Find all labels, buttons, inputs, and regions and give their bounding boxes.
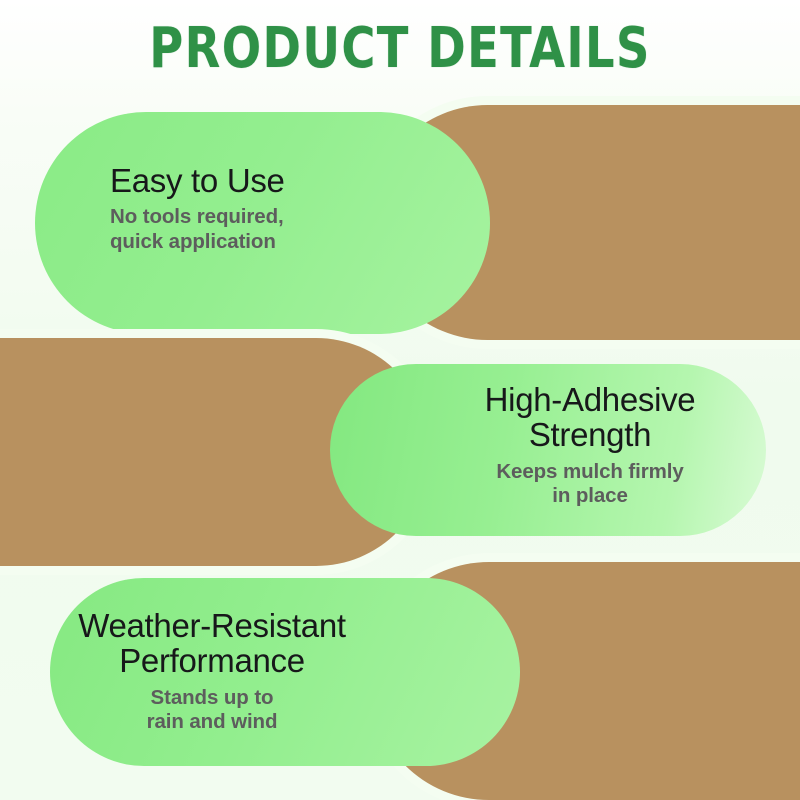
card-3-title: Weather-Resistant Performance — [52, 608, 372, 679]
card-2-subtitle-line-2: in place — [435, 484, 745, 508]
card-2-title-line-2: Strength — [435, 417, 745, 452]
card-2-title: High-Adhesive Strength — [435, 382, 745, 453]
card-1-subtitle-line-2: quick application — [110, 230, 370, 254]
feature-card-easy-to-use: Easy to Use No tools required, quick app… — [0, 105, 800, 340]
card-1-title: Easy to Use — [110, 163, 370, 198]
card-2-text-block: High-Adhesive Strength Keeps mulch firml… — [435, 382, 745, 508]
card-2-title-line-1: High-Adhesive — [435, 382, 745, 417]
page-title: PRODUCT DETAILS — [32, 20, 768, 79]
card-2-subtitle-line-1: Keeps mulch firmly — [435, 460, 745, 484]
card-3-title-line-2: Performance — [52, 643, 372, 678]
left-toes — [607, 648, 663, 667]
card-3-text-block: Weather-Resistant Performance Stands up … — [52, 608, 372, 734]
card-3-subtitle: Stands up to rain and wind — [52, 686, 372, 735]
blue-object-detail — [324, 338, 359, 352]
card-3-title-line-1: Weather-Resistant — [52, 608, 372, 643]
right-toes — [723, 650, 779, 669]
card-1-subtitle-line-1: No tools required, — [110, 205, 370, 229]
feature-card-weather-resistant-performance: Weather-Resistant Performance Stands up … — [0, 562, 800, 800]
infographic-canvas: PRODUCT DETAILS Easy to Use No tools req… — [0, 0, 800, 800]
card-3-subtitle-line-2: rain and wind — [52, 710, 372, 734]
header: PRODUCT DETAILS — [0, 20, 800, 79]
card-3-subtitle-line-1: Stands up to — [52, 686, 372, 710]
card-1-subtitle: No tools required, quick application — [110, 205, 370, 254]
feature-card-high-adhesive-strength: High-Adhesive Strength Keeps mulch firml… — [0, 338, 800, 566]
card-2-subtitle: Keeps mulch firmly in place — [435, 460, 745, 509]
moss-patch — [559, 719, 602, 738]
card-1-text-block: Easy to Use No tools required, quick app… — [110, 163, 370, 254]
